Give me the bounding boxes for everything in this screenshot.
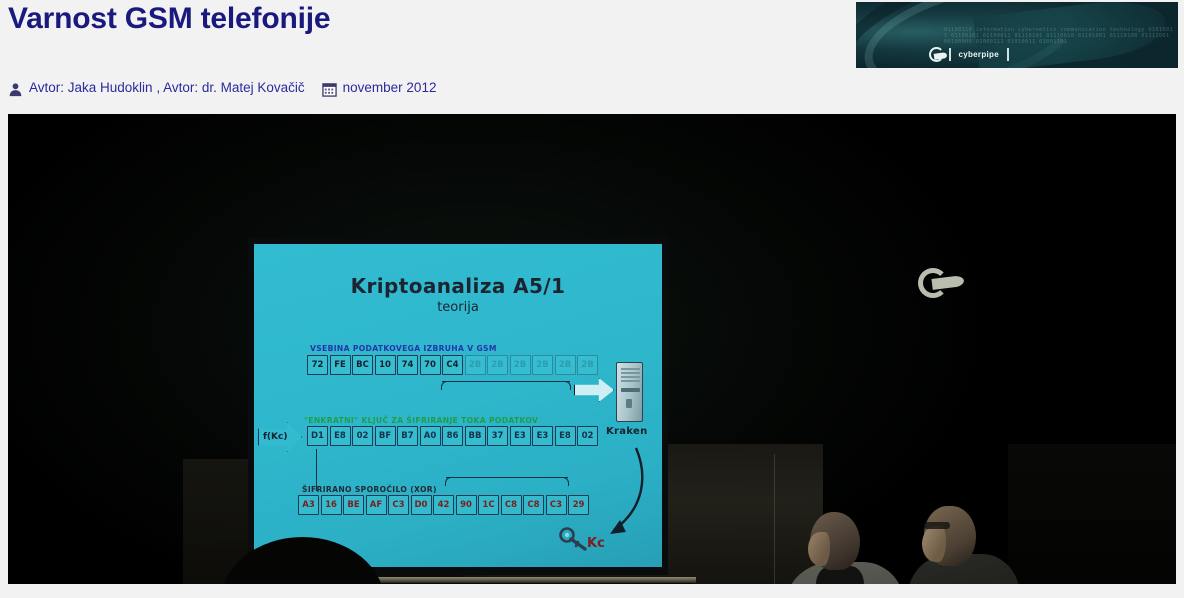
logo-divider-2 bbox=[1007, 48, 1009, 61]
hex-cell: C8 bbox=[501, 495, 522, 515]
right-arrow-icon bbox=[574, 378, 614, 402]
brace-bottom bbox=[446, 477, 568, 485]
presenter-one-face bbox=[808, 532, 830, 566]
hex-cell: 10 bbox=[375, 355, 396, 375]
hex-cell: FE bbox=[330, 355, 351, 375]
hex-cell: B7 bbox=[397, 426, 418, 446]
hex-cell: A0 bbox=[420, 426, 441, 446]
hex-cell: BC bbox=[352, 355, 373, 375]
hex-row-data-burst: 72FEBC107470C42B2B2B2B2B2B bbox=[307, 355, 598, 375]
hex-cell: 37 bbox=[487, 426, 508, 446]
watermark-tail-shape bbox=[931, 275, 964, 290]
hex-cell: AF bbox=[366, 495, 387, 515]
user-icon bbox=[8, 82, 23, 97]
slide-subtitle: teorija bbox=[254, 300, 662, 315]
hex-cell: E8 bbox=[330, 426, 351, 446]
presenter-two-glasses bbox=[924, 522, 950, 529]
logo-name: cyberpipe bbox=[956, 50, 1003, 59]
hex-cell: 16 bbox=[321, 495, 342, 515]
logo-divider bbox=[949, 48, 951, 61]
hex-row-session-key: D1E802BFB7A086BB37E3E3E802 bbox=[307, 426, 598, 446]
function-arrow-label: f(Kc) bbox=[258, 422, 302, 452]
hex-cell: 90 bbox=[456, 495, 477, 515]
hex-cell: BF bbox=[375, 426, 396, 446]
hex-cell: 02 bbox=[352, 426, 373, 446]
row-label-ciphertext: ŠIFRIRANO SPOROČILO (XOR) bbox=[302, 485, 437, 494]
hex-cell: C3 bbox=[388, 495, 409, 515]
hex-cell: 72 bbox=[307, 355, 328, 375]
hex-cell: C8 bbox=[523, 495, 544, 515]
key-label: Kc bbox=[587, 536, 605, 551]
hex-cell: E3 bbox=[510, 426, 531, 446]
page-header: Varnost GSM telefonije Avtor: Jaka Hudok… bbox=[0, 0, 1184, 110]
hex-cell: 2B bbox=[487, 355, 508, 375]
hex-cell: 1C bbox=[478, 495, 499, 515]
cyberpipe-logo-banner[interactable]: 01100110 information cybernetics communi… bbox=[856, 2, 1178, 68]
hex-cell: 86 bbox=[442, 426, 463, 446]
hex-cell: A3 bbox=[298, 495, 319, 515]
hex-cell: 74 bbox=[397, 355, 418, 375]
publish-date: november 2012 bbox=[343, 80, 437, 95]
video-player[interactable]: Kriptoanaliza A5/1 teorija VSEBINA PODAT… bbox=[8, 114, 1176, 584]
hex-cell: C4 bbox=[442, 355, 463, 375]
hex-cell: E8 bbox=[555, 426, 576, 446]
calendar-icon bbox=[322, 82, 337, 97]
presentation-slide: Kriptoanaliza A5/1 teorija VSEBINA PODAT… bbox=[254, 244, 662, 567]
hex-cell: E3 bbox=[532, 426, 553, 446]
hex-cell: BE bbox=[343, 495, 364, 515]
hex-cell: 70 bbox=[420, 355, 441, 375]
presenter-two-face bbox=[922, 526, 946, 562]
hex-cell: C3 bbox=[546, 495, 567, 515]
logo-binary-text: 01100110 information cybernetics communi… bbox=[944, 27, 1174, 49]
hex-cell: D1 bbox=[307, 426, 328, 446]
hex-cell: 42 bbox=[433, 495, 454, 515]
authors-text: Avtor: Jaka Hudoklin , Avtor: dr. Matej … bbox=[29, 80, 305, 95]
slide-title: Kriptoanaliza A5/1 bbox=[254, 274, 662, 298]
logo-wordmark: cyberpipe bbox=[929, 47, 1009, 62]
hex-cell: 2B bbox=[532, 355, 553, 375]
page-root: Varnost GSM telefonije Avtor: Jaka Hudok… bbox=[0, 0, 1184, 598]
page-title: Varnost GSM telefonije bbox=[8, 2, 330, 36]
article-meta: Avtor: Jaka Hudoklin , Avtor: dr. Matej … bbox=[8, 80, 436, 95]
key-icon bbox=[559, 526, 589, 552]
hex-cell: 2B bbox=[465, 355, 486, 375]
hex-row-ciphertext: A316BEAFC3D042901CC8C8C329 bbox=[298, 495, 589, 515]
server-label: Kraken bbox=[606, 426, 648, 437]
row-label-session-key: "ENKRATNI" KLJUČ ZA ŠIFRIRANJE TOKA PODA… bbox=[304, 416, 538, 425]
brace-top bbox=[442, 381, 570, 389]
cyberpipe-watermark-icon bbox=[918, 266, 966, 306]
stage-dark-panel bbox=[1008, 444, 1176, 584]
stage-wall-seam bbox=[774, 454, 775, 584]
hex-cell: 2B bbox=[510, 355, 531, 375]
hex-cell: BB bbox=[465, 426, 486, 446]
hex-cell: 2B bbox=[577, 355, 598, 375]
hex-cell: 2B bbox=[555, 355, 576, 375]
hex-cell: D0 bbox=[411, 495, 432, 515]
server-tower-icon bbox=[616, 362, 643, 422]
cyberpipe-c-icon bbox=[929, 47, 944, 62]
row-label-data-burst: VSEBINA PODATKOVEGA IZBRUHA V GSM bbox=[310, 344, 497, 353]
